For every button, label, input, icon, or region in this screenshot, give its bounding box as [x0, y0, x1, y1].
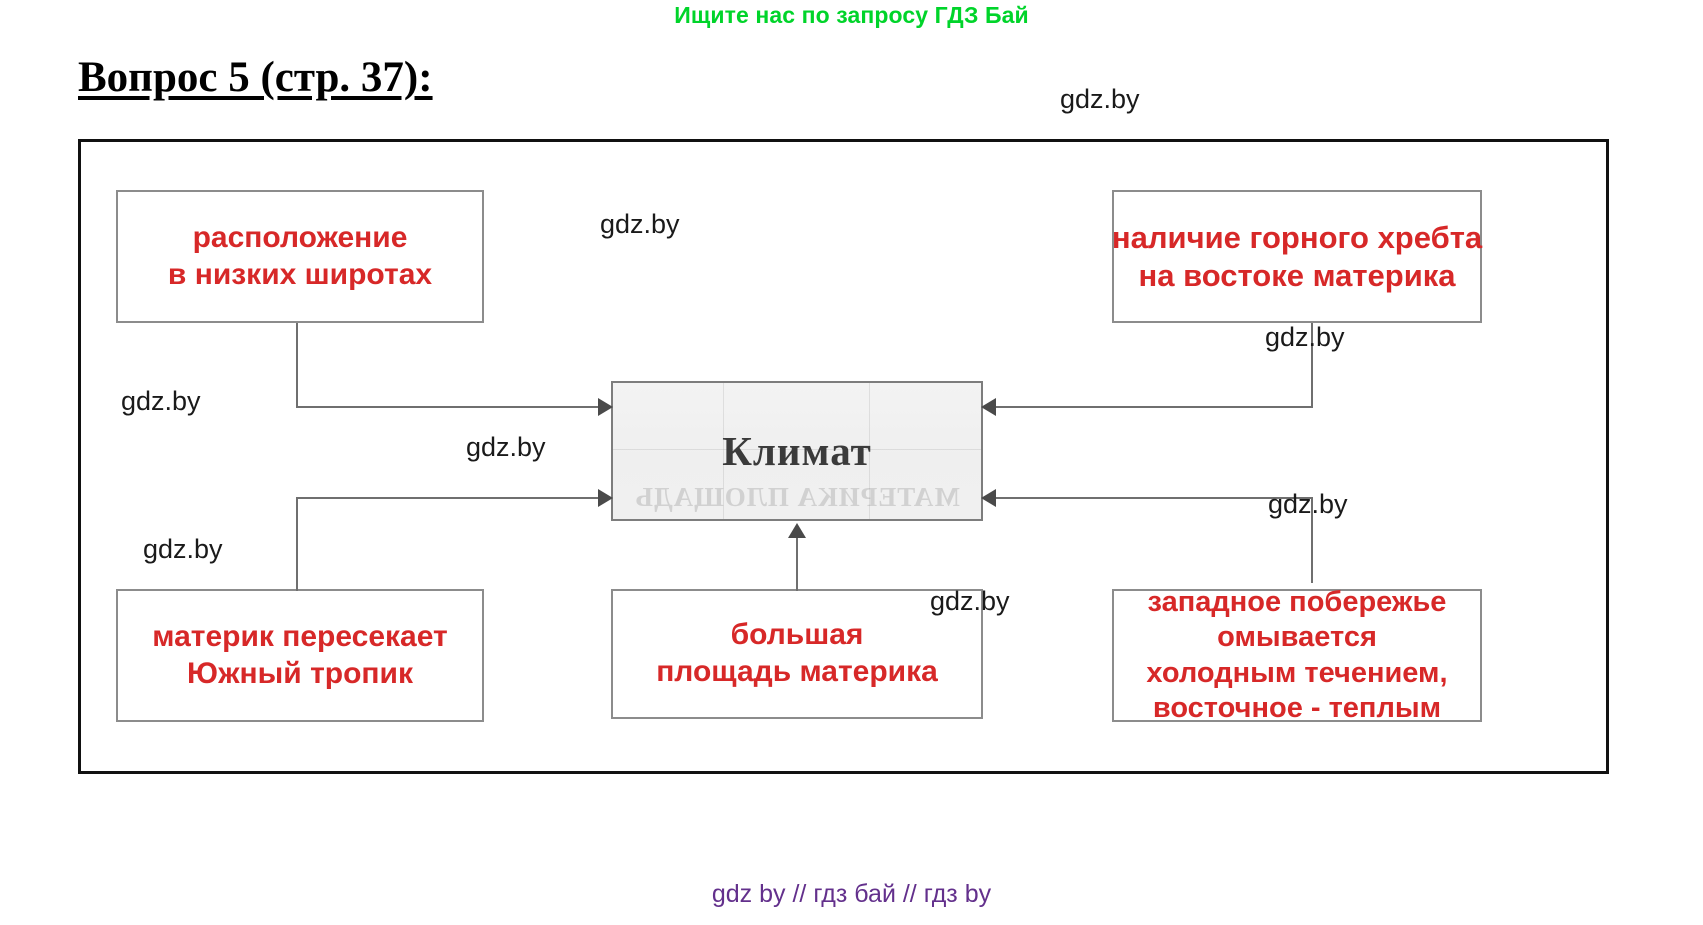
- node-area: большая площадь материка: [611, 589, 983, 719]
- connector-low-latitudes-horizontal: [296, 406, 598, 408]
- arrowhead-tropic: [598, 489, 613, 507]
- node-low-latitudes-line-2: в низких широтах: [168, 257, 432, 294]
- page-title: Вопрос 5 (стр. 37):: [78, 53, 433, 102]
- connector-coast-horizontal: [996, 497, 1313, 499]
- node-mountain-ridge: наличие горного хребта на востоке матери…: [1112, 190, 1482, 323]
- watermark: gdz.by: [600, 209, 680, 240]
- footer-links: gdz by // гдз бай // гдз by: [0, 880, 1703, 909]
- watermark: gdz.by: [1060, 84, 1140, 115]
- connector-mountain-ridge-horizontal: [996, 406, 1313, 408]
- connector-tropic-vertical: [296, 497, 298, 591]
- watermark: gdz.by: [121, 386, 201, 417]
- node-climate-center: Климат МАТЕРИКА ПЛОЩАДЬ: [611, 381, 983, 521]
- connector-tropic-horizontal: [296, 497, 598, 499]
- promo-banner: Ищите нас по запросу ГДЗ Бай: [0, 2, 1703, 29]
- arrowhead-mountain-ridge: [981, 398, 996, 416]
- node-tropic: материк пересекает Южный тропик: [116, 589, 484, 722]
- watermark: gdz.by: [143, 534, 223, 565]
- node-area-line-1: большая: [656, 617, 938, 654]
- node-low-latitudes: расположение в низких широтах: [116, 190, 484, 323]
- node-coast-line-2: омывается: [1114, 620, 1480, 655]
- watermark: gdz.by: [466, 432, 546, 463]
- arrowhead-area: [788, 523, 806, 538]
- node-coast: западное побережье омывается холодным те…: [1112, 589, 1482, 722]
- connector-area-vertical: [796, 537, 798, 591]
- node-coast-line-3: холодным течением,: [1114, 656, 1480, 691]
- worksheet-page: Ищите нас по запросу ГДЗ Бай Вопрос 5 (с…: [0, 0, 1703, 925]
- node-area-line-2: площадь материка: [656, 654, 938, 691]
- arrowhead-coast: [981, 489, 996, 507]
- node-coast-line-1: западное побережье: [1114, 585, 1480, 620]
- node-mountain-ridge-line-1: наличие горного хребта: [1112, 219, 1482, 257]
- connector-low-latitudes-vertical: [296, 323, 298, 408]
- node-low-latitudes-line-1: расположение: [168, 220, 432, 257]
- node-coast-line-4: восточное - теплым: [1114, 691, 1480, 726]
- watermark: gdz.by: [930, 586, 1010, 617]
- watermark: gdz.by: [1265, 322, 1345, 353]
- climate-label: Климат: [722, 427, 872, 475]
- watermark: gdz.by: [1268, 489, 1348, 520]
- node-tropic-line-1: материк пересекает: [152, 619, 447, 656]
- scan-bleedthrough-text: МАТЕРИКА ПЛОЩАДЬ: [613, 482, 981, 513]
- node-mountain-ridge-line-2: на востоке материка: [1112, 257, 1482, 295]
- arrowhead-low-latitudes: [598, 398, 613, 416]
- node-tropic-line-2: Южный тропик: [152, 656, 447, 693]
